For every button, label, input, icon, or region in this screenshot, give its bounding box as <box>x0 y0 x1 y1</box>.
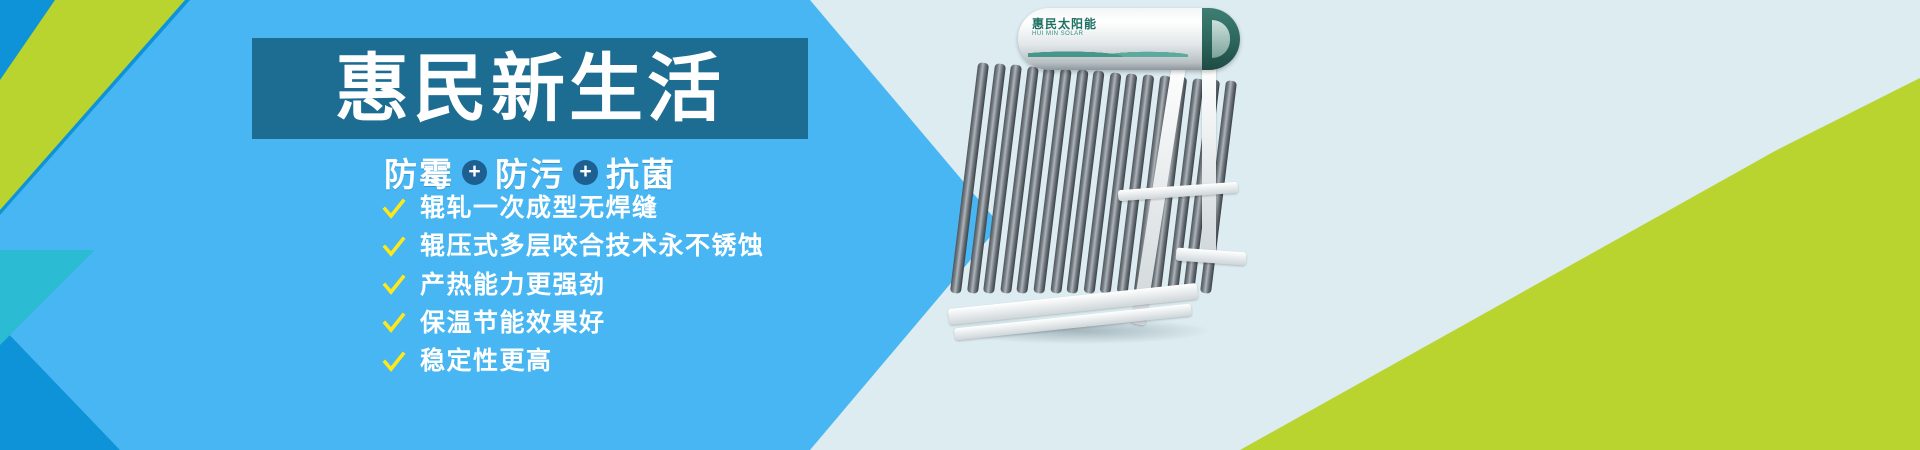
check-icon <box>382 311 406 335</box>
headline-block: 惠民新生活 <box>252 38 808 139</box>
promo-banner: 惠民新生活 防霉 + 防污 + 抗菌 辊轧一次成型无焊缝 辊压式多层咬合技术永不… <box>0 0 1920 450</box>
feature-label: 辊压式多层咬合技术永不锈蚀 <box>420 231 765 262</box>
tank-brand-subtitle: HUI MIN SOLAR <box>1032 31 1182 38</box>
plus-icon: + <box>462 160 487 185</box>
product-image-solar-water-heater: 惠民太阳能 HUI MIN SOLAR <box>940 0 1270 360</box>
check-icon <box>382 197 406 221</box>
feature-label: 辊轧一次成型无焊缝 <box>420 193 659 224</box>
plus-icon: + <box>573 160 598 185</box>
subtitle-word-3: 抗菌 <box>606 148 676 196</box>
subtitle-word-1: 防霉 <box>384 148 454 196</box>
check-icon <box>382 273 406 297</box>
list-item: 产热能力更强劲 <box>382 270 765 301</box>
list-item: 稳定性更高 <box>382 346 765 377</box>
subtitle-row: 防霉 + 防污 + 抗菌 <box>252 148 808 196</box>
feature-label: 保温节能效果好 <box>420 308 606 339</box>
list-item: 辊轧一次成型无焊缝 <box>382 193 765 224</box>
page-title: 惠民新生活 <box>335 52 725 126</box>
tank-brand-label: 惠民太阳能 HUI MIN SOLAR <box>1032 18 1182 58</box>
frame-rail-vertical <box>1202 62 1216 262</box>
check-icon <box>382 350 406 374</box>
feature-label: 稳定性更高 <box>420 346 553 377</box>
feature-label: 产热能力更强劲 <box>420 270 606 301</box>
tank-brand-name: 惠民太阳能 <box>1032 18 1182 31</box>
subtitle-word-2: 防污 <box>495 148 565 196</box>
check-icon <box>382 235 406 259</box>
feature-list: 辊轧一次成型无焊缝 辊压式多层咬合技术永不锈蚀 产热能力更强劲 保温节能效果好 <box>382 193 765 377</box>
list-item: 保温节能效果好 <box>382 308 765 339</box>
list-item: 辊压式多层咬合技术永不锈蚀 <box>382 231 765 262</box>
